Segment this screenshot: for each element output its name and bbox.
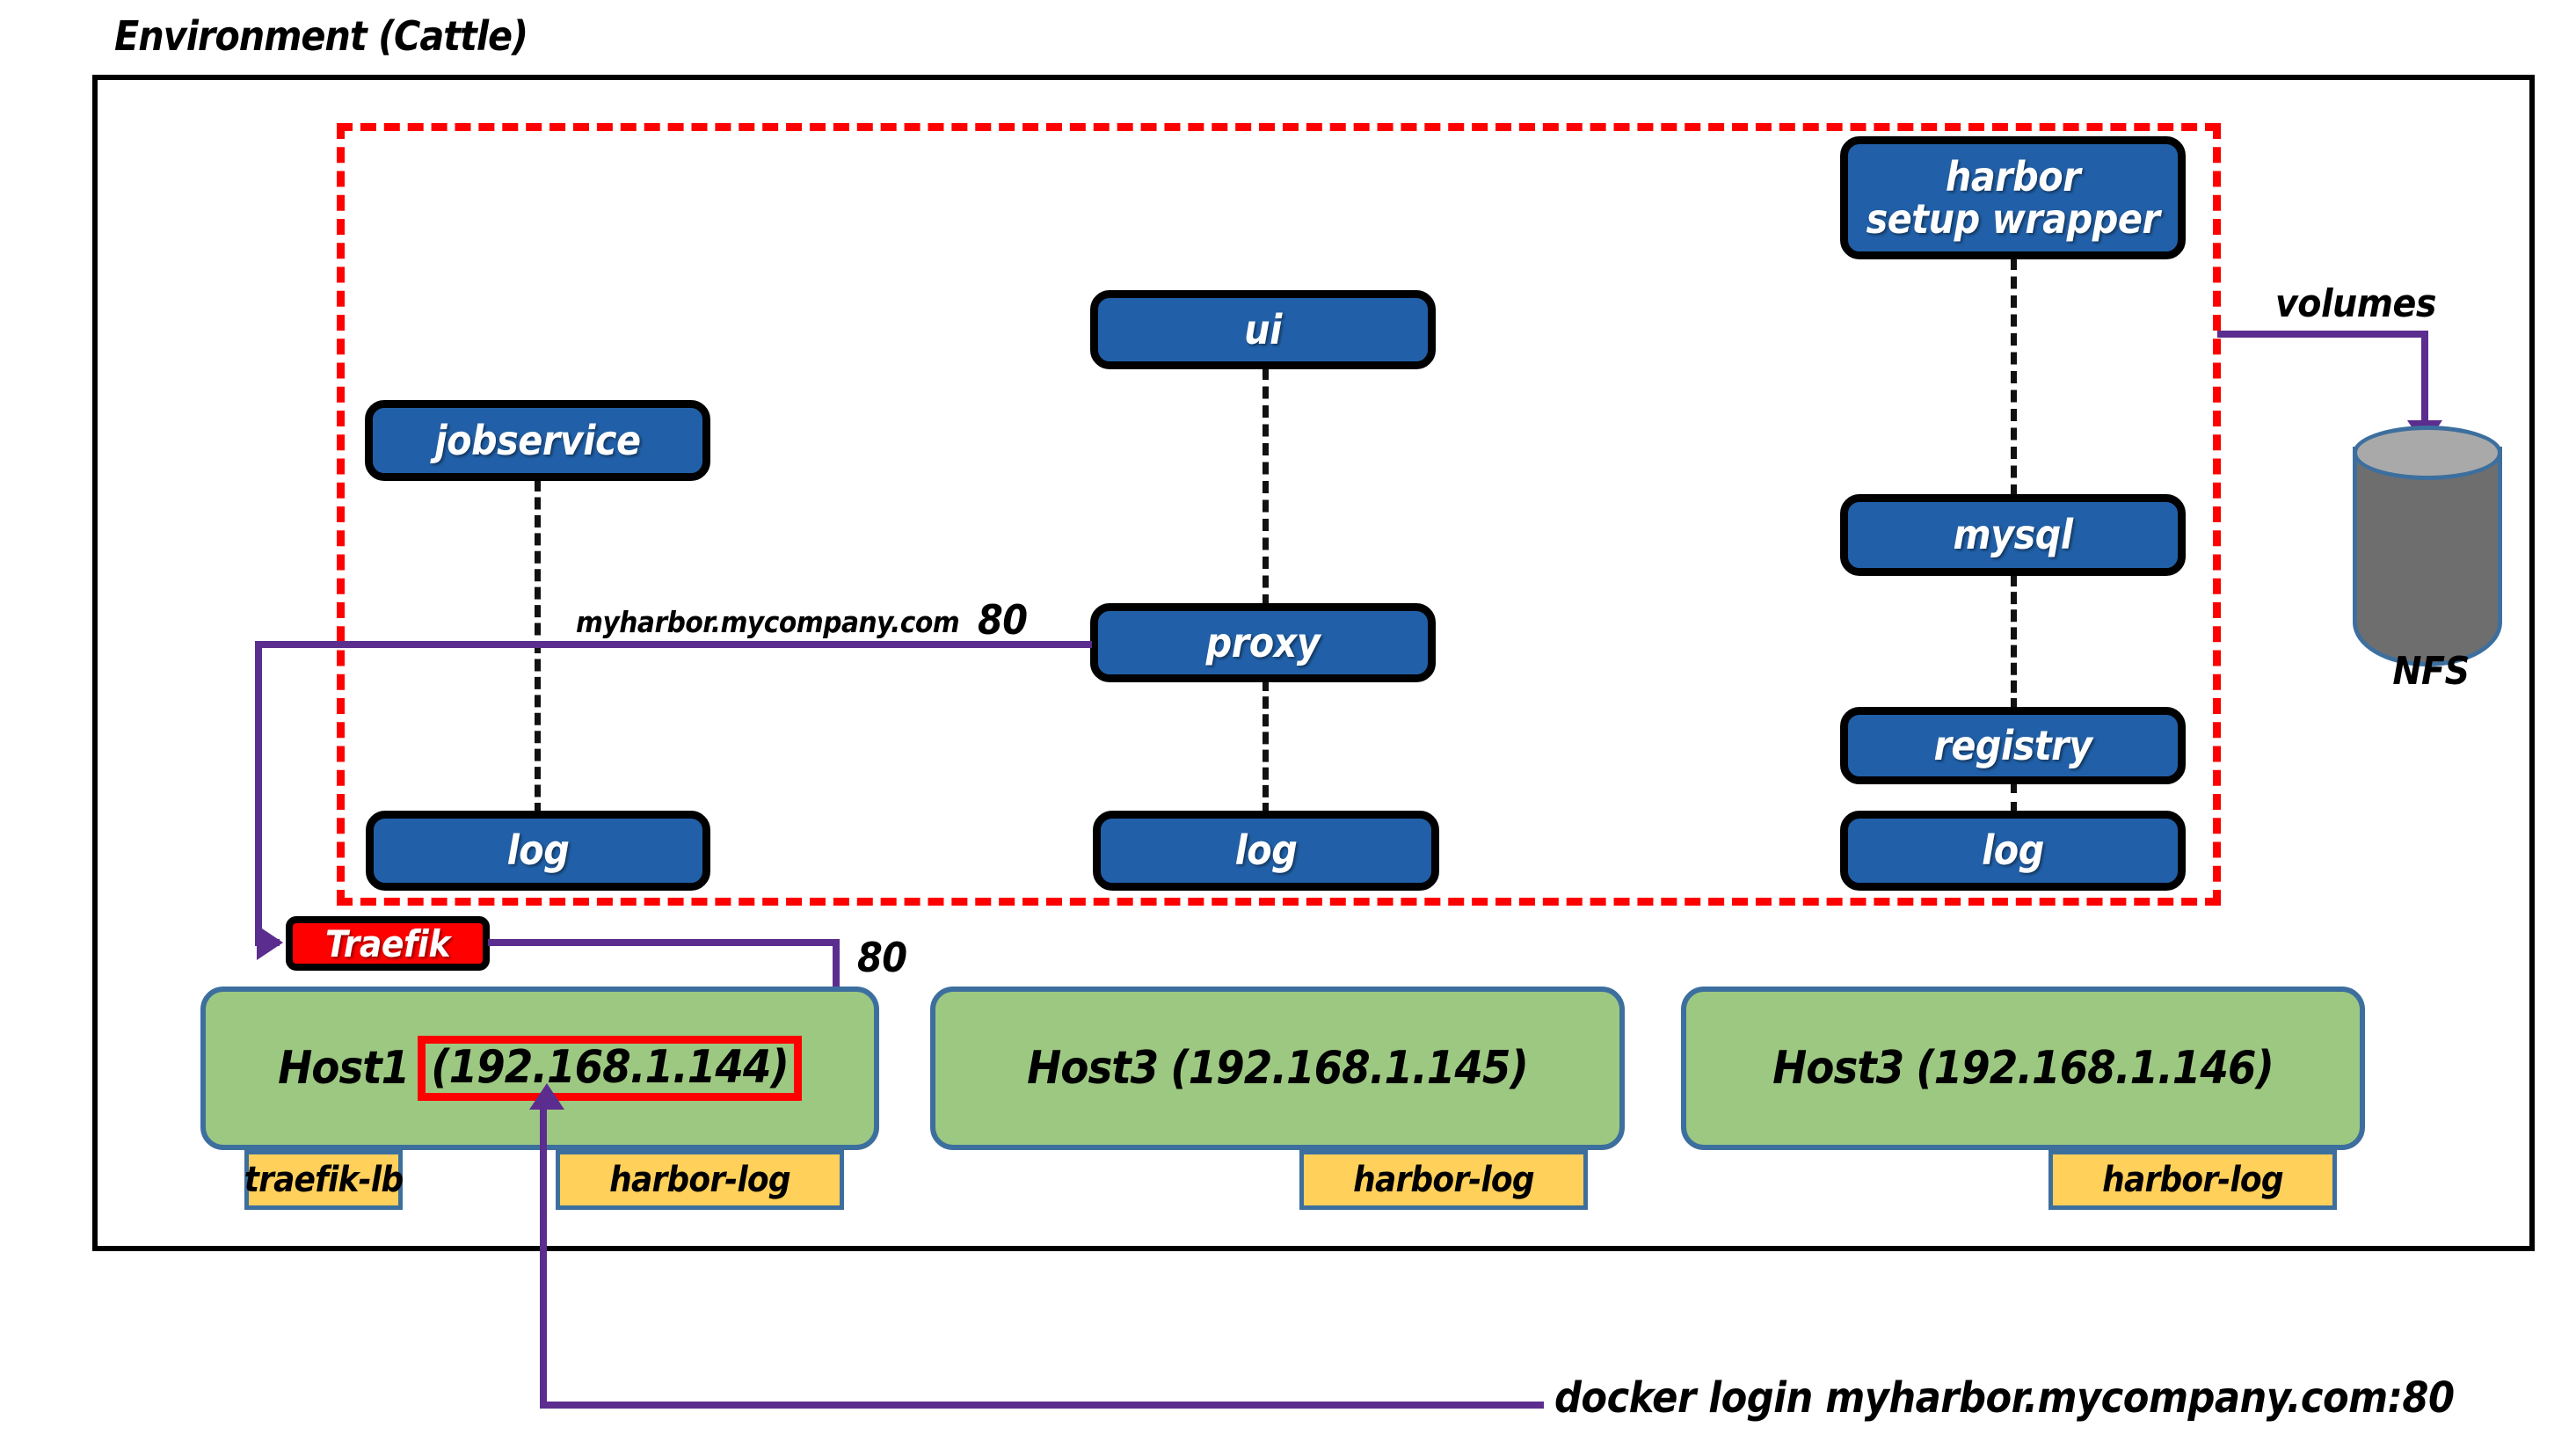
service-box-registry[interactable]: registry: [1840, 707, 2186, 784]
service-box-ui[interactable]: ui: [1090, 290, 1436, 369]
docker-login-route-vertical: [540, 1110, 547, 1405]
volumes-link-vertical: [2421, 331, 2428, 426]
port-80-proxy-label: 80: [978, 596, 1028, 644]
host-1-name: Host1: [278, 1042, 409, 1095]
wrapper-label-line2: setup wrapper: [1867, 198, 2160, 240]
stack-chip-harbor-log-host1[interactable]: harbor-log: [556, 1150, 844, 1210]
service-box-harbor-setup-wrapper[interactable]: harbor setup wrapper: [1840, 136, 2186, 259]
connector-wrapper-mysql: [2011, 258, 2017, 497]
host-2-label: Host3 (192.168.1.145): [1027, 1042, 1528, 1095]
nfs-cylinder-top: [2353, 426, 2502, 480]
host-1-ip-highlight: (192.168.1.144): [418, 1036, 802, 1101]
docker-login-route-horizontal: [540, 1402, 1544, 1409]
diagram-canvas: Environment (Cattle) jobservice log ui p…: [0, 0, 2576, 1449]
stack-chip-harbor-log-host3[interactable]: harbor-log: [2048, 1150, 2337, 1210]
host-box-2[interactable]: Host3 (192.168.1.145): [930, 987, 1625, 1150]
docker-login-command: docker login myharbor.mycompany.com:80: [1554, 1373, 2455, 1423]
traefik-inbound-arrowhead-icon: [257, 925, 283, 960]
host-2-ip: (192.168.1.145): [1170, 1042, 1528, 1095]
host-3-label: Host3 (192.168.1.146): [1772, 1042, 2274, 1095]
proxy-route-horizontal: [255, 641, 1092, 648]
page-title: Environment (Cattle): [114, 12, 528, 60]
connector-proxy-log: [1263, 679, 1269, 815]
stack-chip-harbor-log-host2[interactable]: harbor-log: [1299, 1150, 1588, 1210]
service-box-log-proxy[interactable]: log: [1093, 811, 1439, 891]
nfs-label: NFS: [2365, 649, 2497, 694]
volumes-link-horizontal: [2217, 331, 2428, 338]
proxy-route-vertical: [255, 641, 262, 945]
connector-mysql-registry: [2011, 574, 2017, 710]
docker-login-arrowhead-icon: [529, 1083, 564, 1110]
host-3-ip: (192.168.1.146): [1916, 1042, 2274, 1095]
traefik-loadbalancer-box[interactable]: Traefik: [286, 916, 490, 971]
host-2-name: Host3: [1027, 1042, 1158, 1095]
connector-ui-proxy: [1263, 368, 1269, 607]
host-box-3[interactable]: Host3 (192.168.1.146): [1681, 987, 2365, 1150]
service-box-log-jobservice[interactable]: log: [366, 811, 710, 891]
hostname-annotation: myharbor.mycompany.com: [576, 605, 959, 639]
stack-chip-traefik-lb[interactable]: traefik-lb: [244, 1150, 403, 1210]
nfs-storage-cylinder: [2353, 427, 2502, 644]
service-box-proxy[interactable]: proxy: [1090, 603, 1436, 682]
volumes-label: volumes: [2275, 281, 2436, 326]
service-box-log-registry[interactable]: log: [1840, 811, 2186, 891]
port-80-traefik-label: 80: [857, 934, 907, 981]
connector-registry-log: [2011, 781, 2017, 814]
host-3-name: Host3: [1772, 1042, 1903, 1095]
traefik-route-horizontal: [488, 939, 840, 946]
wrapper-label-line1: harbor: [1946, 156, 2080, 198]
service-box-jobservice[interactable]: jobservice: [365, 400, 710, 481]
service-box-mysql[interactable]: mysql: [1840, 494, 2186, 576]
